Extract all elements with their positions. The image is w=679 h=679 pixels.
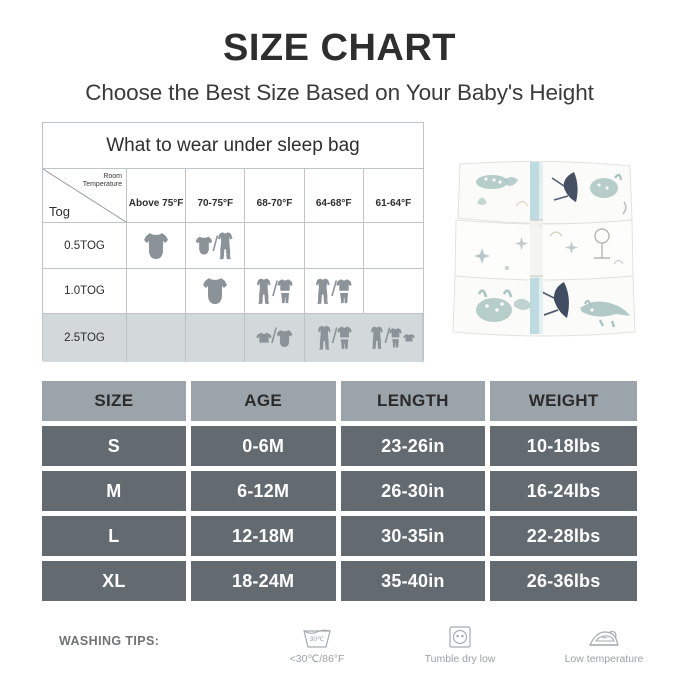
slash-separator: / [332, 325, 338, 349]
washing-tips-section: WASHING TIPS: 30℃ <30℃/86°F Tum [42, 620, 642, 675]
slash-separator: / [384, 325, 390, 349]
column-header-weight: WEIGHT [490, 381, 637, 421]
table-row: XL 18-24M 35-40in 26-36lbs [42, 561, 637, 601]
sleep-bag-middle [455, 220, 633, 280]
slash-separator: / [272, 278, 278, 302]
cell-weight: 26-36lbs [490, 561, 637, 601]
cell-length: 23-26in [341, 426, 486, 466]
washing-tip-wash: 30℃ <30℃/86°F [252, 622, 382, 665]
cell-age: 0-6M [191, 426, 336, 466]
wash-temp-text: 30℃ [310, 636, 325, 643]
cell-length: 30-35in [341, 516, 486, 556]
temp-column-header: 70-75°F [186, 169, 245, 223]
cell-age: 12-18M [191, 516, 336, 556]
tumble-dry-icon-glyph [447, 624, 473, 650]
tumble-dry-icon [395, 622, 525, 650]
cell-size: M [42, 471, 186, 511]
wash-basin-icon: 30℃ [252, 622, 382, 650]
tog-cell [127, 223, 186, 269]
tog-cell [186, 269, 245, 314]
room-temperature-line-2: Temperature [83, 181, 122, 188]
bodysuit-icon [202, 276, 228, 306]
temp-column-header: Above 75°F [127, 169, 186, 223]
size-chart-page: SIZE CHART Choose the Best Size Based on… [0, 0, 679, 679]
tog-grid: Room Temperature Tog Above 75°F 70-75°F … [43, 169, 423, 362]
clothing-icons: / [256, 277, 293, 306]
cell-age: 18-24M [191, 561, 336, 601]
washing-tip-iron: Low temperature [539, 622, 669, 665]
iron-icon-glyph [586, 626, 622, 650]
shirt-and-pants-icon [389, 326, 402, 350]
cell-length: 35-40in [341, 561, 486, 601]
shirt-and-pants-icon [336, 277, 352, 306]
sleep-bag-stack-image [452, 158, 637, 342]
tog-row-label: 1.0TOG [43, 269, 127, 314]
cell-size: S [42, 426, 186, 466]
table-row: L 12-18M 30-35in 22-28lbs [42, 516, 637, 556]
bodysuit-icon [276, 328, 293, 349]
clothing-icons: / [256, 326, 293, 350]
clothing-icons [202, 276, 228, 306]
column-header-size: SIZE [42, 381, 186, 421]
shirt-and-pants-icon [277, 277, 293, 306]
what-to-wear-table-title: What to wear under sleep bag [43, 123, 423, 169]
slash-separator: / [212, 233, 218, 257]
cell-length: 26-30in [341, 471, 486, 511]
column-header-age: AGE [191, 381, 336, 421]
wash-basin-icon-glyph: 30℃ [300, 626, 334, 650]
page-subtitle: Choose the Best Size Based on Your Baby'… [0, 80, 679, 106]
clothing-icons: / [315, 277, 352, 306]
bodysuit-icon [195, 235, 213, 256]
footed-pajama-icon [256, 277, 273, 306]
cell-size: XL [42, 561, 186, 601]
tog-cell [305, 223, 364, 269]
table-row: M 6-12M 26-30in 16-24lbs [42, 471, 637, 511]
ribbon-tie [530, 162, 543, 334]
washing-tip-text: Tumble dry low [395, 653, 525, 665]
tog-cell: / [364, 314, 423, 362]
footed-pajama-icon [217, 231, 235, 261]
room-temperature-label: Room Temperature [72, 173, 122, 189]
temp-column-header: 64-68°F [305, 169, 364, 223]
tog-cell: / [245, 314, 304, 362]
tog-cell: / [305, 314, 364, 362]
what-to-wear-table: What to wear under sleep bag Room Temper… [42, 122, 424, 361]
table-row: S 0-6M 23-26in 10-18lbs [42, 426, 637, 466]
tog-temperature-corner-cell: Room Temperature Tog [43, 169, 127, 223]
cell-weight: 22-28lbs [490, 516, 637, 556]
tog-cell: / [245, 269, 304, 314]
cell-weight: 10-18lbs [490, 426, 637, 466]
tog-row-label: 0.5TOG [43, 223, 127, 269]
clothing-icons: / [370, 325, 415, 351]
iron-icon [539, 622, 669, 650]
product-photo [452, 158, 637, 342]
footed-pajama-icon [315, 277, 332, 306]
bodysuit-icon [143, 231, 169, 261]
footed-pajama-icon [370, 325, 385, 351]
tog-cell: / [305, 269, 364, 314]
cell-age: 6-12M [191, 471, 336, 511]
column-header-length: LENGTH [341, 381, 486, 421]
long-sleeve-top-icon [256, 331, 272, 345]
footed-pajama-icon [317, 324, 333, 352]
temp-column-header: 68-70°F [245, 169, 304, 223]
size-table-header-row: SIZE AGE LENGTH WEIGHT [42, 381, 637, 421]
tog-cell [127, 269, 186, 314]
sleep-bag-top [458, 161, 632, 223]
size-table: SIZE AGE LENGTH WEIGHT S 0-6M 23-26in 10… [42, 381, 637, 606]
tog-cell [364, 269, 423, 314]
clothing-icons: / [195, 231, 235, 261]
cell-size: L [42, 516, 186, 556]
slash-separator: / [331, 278, 337, 302]
shirt-and-pants-icon [337, 324, 352, 352]
slash-separator: / [271, 325, 277, 349]
long-sleeve-top-icon [403, 333, 415, 343]
tog-cell [245, 223, 304, 269]
washing-tip-dry: Tumble dry low [395, 622, 525, 665]
tog-cell [127, 314, 186, 362]
temp-column-header: 61-64°F [364, 169, 423, 223]
clothing-icons: / [317, 324, 352, 352]
tog-cell [364, 223, 423, 269]
sleep-bag-bottom [453, 276, 635, 336]
cell-weight: 16-24lbs [490, 471, 637, 511]
clothing-icons [143, 231, 169, 261]
washing-tips-label: WASHING TIPS: [59, 634, 159, 648]
washing-tip-text: <30℃/86°F [252, 653, 382, 665]
tog-cell: / [186, 223, 245, 269]
room-temperature-line-1: Room [103, 173, 122, 180]
tog-axis-label: Tog [49, 204, 70, 219]
washing-tip-text: Low temperature [539, 653, 669, 665]
tog-row-label: 2.5TOG [43, 314, 127, 362]
tog-cell [186, 314, 245, 362]
page-title: SIZE CHART [0, 27, 679, 70]
